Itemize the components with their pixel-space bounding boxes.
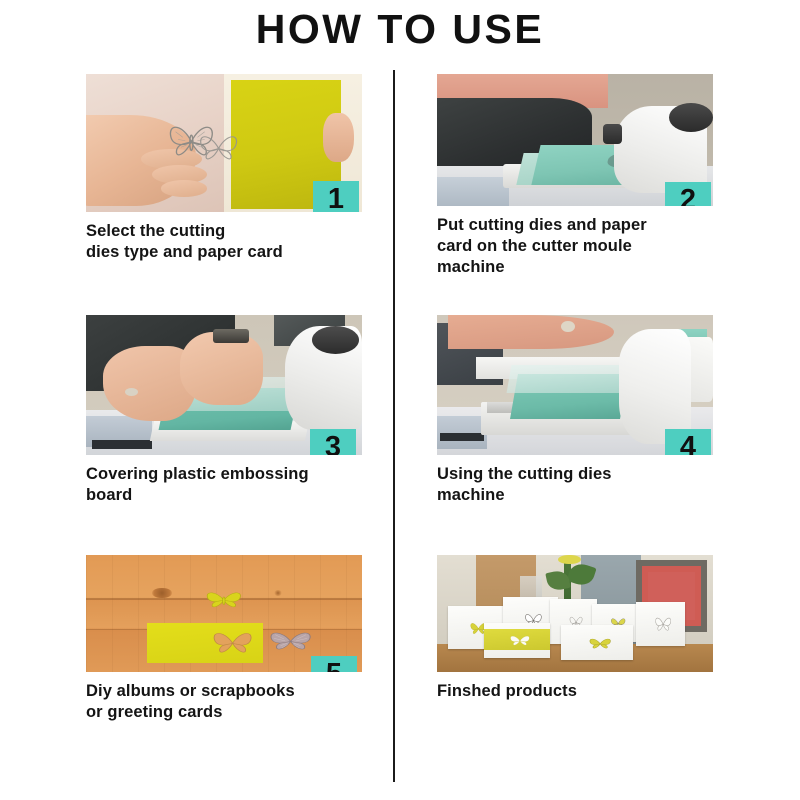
- wrist-watch: [213, 329, 249, 343]
- step-caption-6: Finshed products: [437, 681, 727, 702]
- wood-knot: [152, 588, 171, 599]
- step-card-1: 1 Select the cutting dies type and paper…: [86, 74, 376, 263]
- wooden-board-butterflies-image: [86, 555, 362, 672]
- yellow-butterfly-icon: [584, 634, 616, 652]
- step-badge-5: 5: [311, 656, 357, 672]
- step-card-4: 4 Using the cutting dies machine: [437, 315, 727, 506]
- greeting-card-front: [484, 623, 550, 658]
- step-1-photo: 1: [86, 74, 362, 212]
- step-2-photo: 2: [437, 74, 713, 206]
- step-4-photo: 4: [437, 315, 713, 455]
- step-badge-4: 4: [665, 429, 711, 455]
- person-arm: [448, 315, 614, 349]
- greeting-card-front: [561, 625, 633, 660]
- finger-ring: [561, 321, 575, 332]
- step-caption-2: Put cutting dies and paper card on the c…: [437, 215, 727, 278]
- step-card-5: 5 Diy albums or scrapbooks or greeting c…: [86, 555, 376, 723]
- finger: [161, 180, 208, 197]
- table-dark-edge: [92, 440, 153, 450]
- step-card-2: 2 Put cutting dies and paper card on the…: [437, 74, 727, 278]
- white-butterfly-icon: [652, 612, 674, 635]
- machine-lever: [603, 124, 622, 144]
- step-6-photo: 6: [437, 555, 713, 672]
- steps-grid: 1 Select the cutting dies type and paper…: [0, 0, 800, 800]
- step-caption-4: Using the cutting dies machine: [437, 464, 727, 506]
- butterfly-cutout-hole-icon: [205, 623, 260, 660]
- step-caption-5: Diy albums or scrapbooks or greeting car…: [86, 681, 376, 723]
- step-caption-3: Covering plastic embossing board: [86, 464, 376, 506]
- how-to-use-infographic: HOW TO USE: [0, 0, 800, 800]
- step-badge-1: 1: [313, 181, 359, 212]
- greeting-card: [636, 602, 686, 646]
- finished-greeting-cards-image: [437, 555, 713, 672]
- wood-knot: [274, 590, 282, 596]
- butterfly-die-icon-secondary: [191, 124, 246, 171]
- table-dark-edge: [440, 433, 484, 441]
- step-card-6: 6 Finshed products: [437, 555, 727, 702]
- white-cutout-butterfly-icon: [505, 631, 534, 649]
- step-badge-2: 2: [665, 182, 711, 206]
- thumb: [323, 113, 353, 163]
- machine-body: [619, 329, 691, 444]
- step-card-3: 3 Covering plastic embossing board: [86, 315, 376, 506]
- step-3-photo: 3: [86, 315, 362, 455]
- machine-crank-knob: [669, 103, 713, 132]
- table-edge: [437, 177, 509, 206]
- step-caption-1: Select the cutting dies type and paper c…: [86, 221, 376, 263]
- step-badge-3: 3: [310, 429, 356, 455]
- step-5-photo: 5: [86, 555, 362, 672]
- metal-butterfly-die-icon: [263, 625, 318, 655]
- clear-plastic-board: [506, 365, 627, 393]
- yellow-butterfly-cutout-icon: [199, 585, 249, 613]
